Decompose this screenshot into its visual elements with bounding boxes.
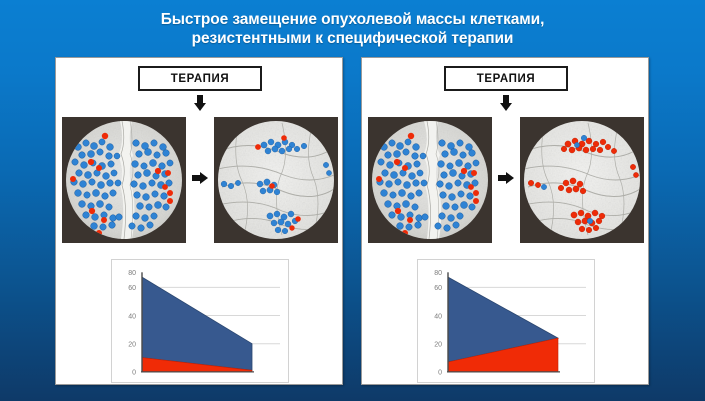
chart-right: 80 60 40 20 0 bbox=[417, 259, 595, 383]
svg-text:0: 0 bbox=[438, 370, 442, 377]
title-line-2: резистентными к специфической терапии bbox=[0, 29, 705, 48]
micrograph-disc bbox=[218, 121, 334, 239]
chart-left-svg: 80 60 40 20 0 bbox=[112, 260, 288, 382]
arrow-right-head bbox=[200, 172, 208, 184]
therapy-label-box-left: ТЕРАПИЯ bbox=[138, 66, 262, 91]
slide: Быстрое замещение опухолевой массы клетк… bbox=[0, 0, 705, 401]
y-axis-tick-labels: 80 60 40 20 0 bbox=[434, 270, 442, 376]
svg-text:20: 20 bbox=[128, 342, 136, 349]
micrograph-post-svg bbox=[524, 121, 640, 239]
micrograph-row-right bbox=[362, 117, 650, 245]
chart-right-svg: 80 60 40 20 0 bbox=[418, 260, 594, 382]
svg-text:20: 20 bbox=[434, 342, 442, 349]
therapy-label-box-right: ТЕРАПИЯ bbox=[444, 66, 568, 91]
micrograph-disc bbox=[524, 121, 640, 239]
svg-text:60: 60 bbox=[128, 285, 136, 292]
arrow-right-head bbox=[506, 172, 514, 184]
panel-right: ТЕРАПИЯ bbox=[361, 57, 649, 385]
page-title: Быстрое замещение опухолевой массы клетк… bbox=[0, 10, 705, 48]
title-line-1: Быстрое замещение опухолевой массы клетк… bbox=[161, 11, 545, 28]
therapy-label-text: ТЕРАПИЯ bbox=[477, 73, 536, 85]
svg-text:0: 0 bbox=[132, 370, 136, 377]
micrograph-row-left bbox=[56, 117, 344, 245]
arrow-down-head bbox=[194, 103, 206, 111]
micrograph-post-therapy-left bbox=[214, 117, 338, 243]
micrograph-disc bbox=[66, 121, 182, 239]
micrograph-disc bbox=[372, 121, 488, 239]
svg-text:40: 40 bbox=[128, 313, 136, 320]
svg-text:40: 40 bbox=[434, 313, 442, 320]
svg-text:80: 80 bbox=[434, 270, 442, 277]
micrograph-pre-svg bbox=[66, 121, 182, 239]
svg-text:80: 80 bbox=[128, 270, 136, 277]
svg-text:60: 60 bbox=[434, 285, 442, 292]
y-axis-tick-labels: 80 60 40 20 0 bbox=[128, 270, 136, 376]
panel-left: ТЕРАПИЯ bbox=[55, 57, 343, 385]
micrograph-pre-svg bbox=[372, 121, 488, 239]
therapy-label-text: ТЕРАПИЯ bbox=[171, 73, 230, 85]
micrograph-post-svg bbox=[218, 121, 334, 239]
arrow-down-head bbox=[500, 103, 512, 111]
micrograph-post-therapy-right bbox=[520, 117, 644, 243]
chart-left: 80 60 40 20 0 bbox=[111, 259, 289, 383]
series-sensitive-area bbox=[142, 277, 252, 370]
micrograph-pre-therapy-left bbox=[62, 117, 186, 243]
micrograph-pre-therapy-right bbox=[368, 117, 492, 243]
